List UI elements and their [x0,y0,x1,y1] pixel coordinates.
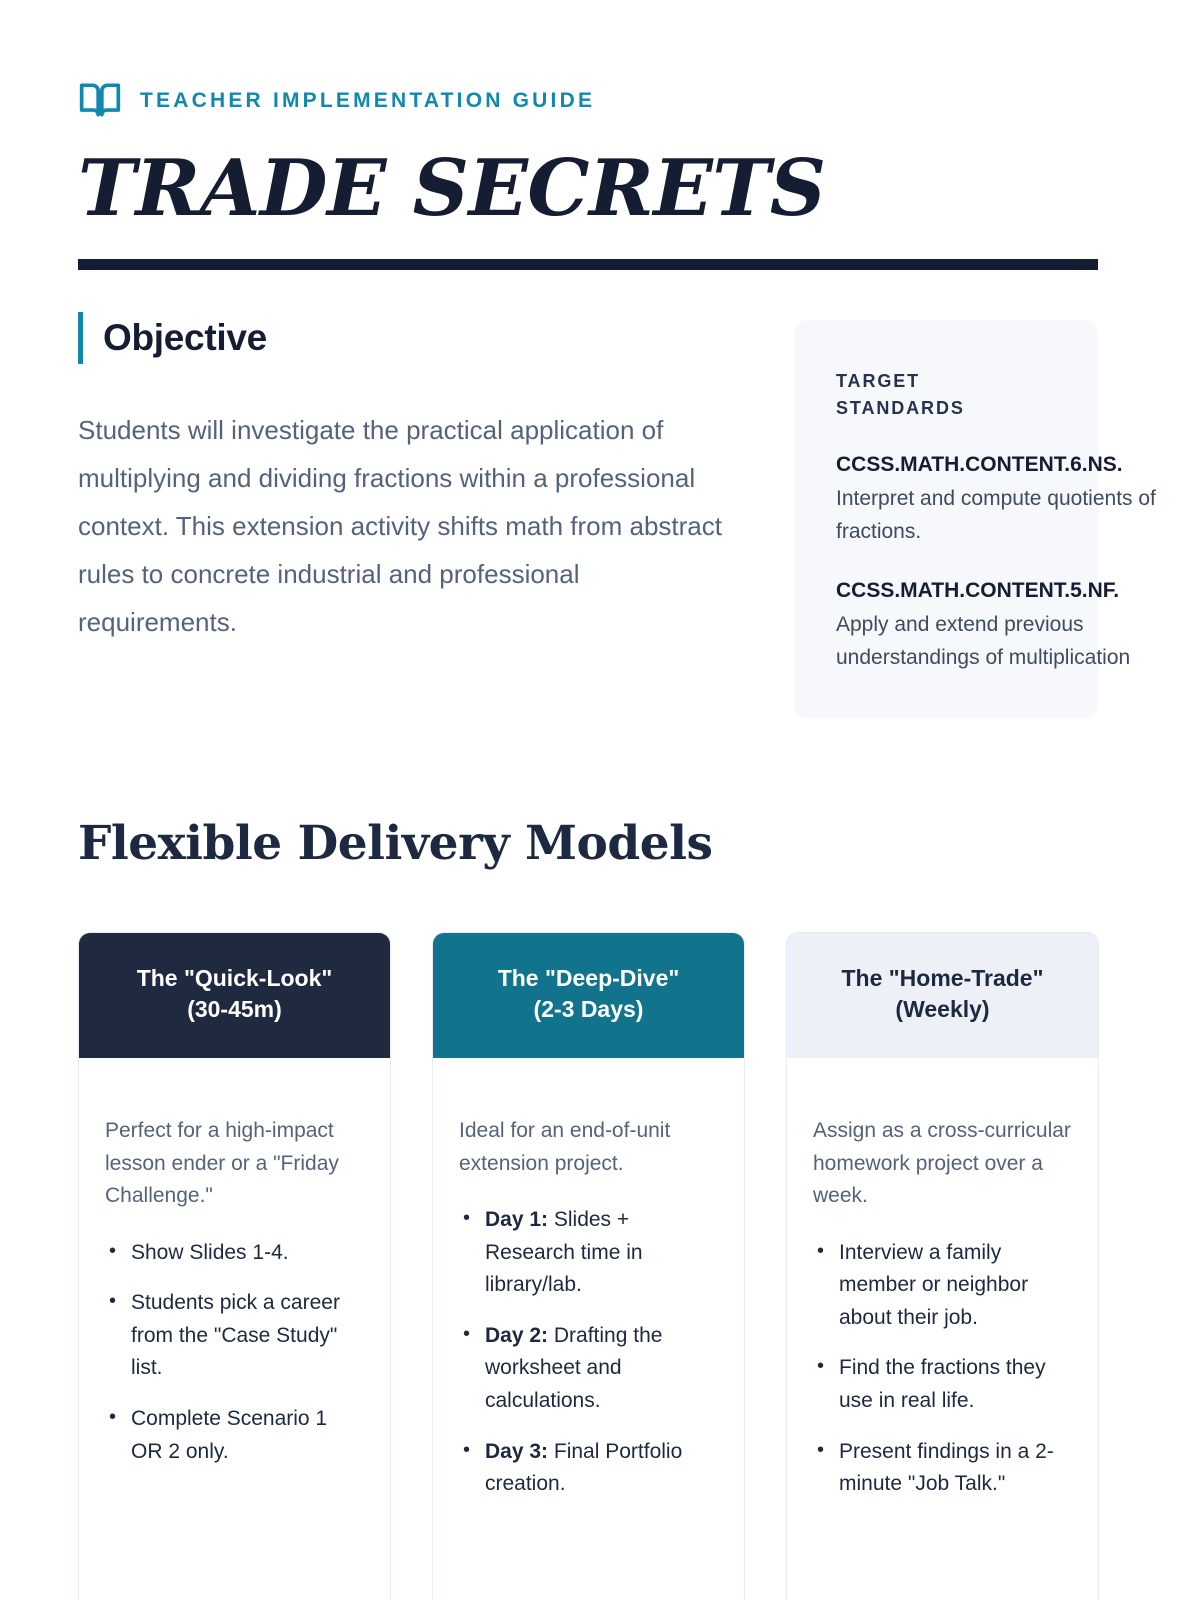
list-item: Day 1: Slides + Research time in library… [485,1204,718,1302]
objective-body-text: Students will investigate the practical … [78,406,743,646]
objective-section: Objective Students will investigate the … [78,312,738,672]
delivery-card-deep-dive: The "Deep-Dive" (2-3 Days) Ideal for an … [432,932,745,1600]
target-standards-card: TARGET STANDARDS CCSS.MATH.CONTENT.6.NS.… [794,320,1098,718]
delivery-card-title-line2: (2-3 Days) [451,994,726,1026]
delivery-card-title-line2: (30-45m) [97,994,372,1026]
list-item-text: Present findings in a 2-minute "Job Talk… [839,1440,1054,1496]
list-item-lead: Day 1: [485,1208,548,1231]
delivery-card-header: The "Quick-Look" (30-45m) [79,933,390,1058]
list-item: Day 3: Final Portfolio creation. [485,1436,718,1501]
list-item: Find the fractions they use in real life… [839,1352,1072,1417]
standard-code: CCSS.MATH.CONTENT.6.NS. [836,448,1098,482]
delivery-card-title-line2: (Weekly) [805,994,1080,1026]
delivery-models-row: The "Quick-Look" (30-45m) Perfect for a … [78,932,1122,1600]
delivery-card-intro: Assign as a cross-curricular homework pr… [813,1115,1072,1213]
guide-page: TEACHER IMPLEMENTATION GUIDE TRADE SECRE… [0,0,1200,1600]
delivery-card-list: Show Slides 1-4. Students pick a career … [105,1237,364,1468]
list-item: Day 2: Drafting the worksheet and calcul… [485,1320,718,1418]
list-item: Present findings in a 2-minute "Job Talk… [839,1436,1072,1501]
objective-standards-row: Objective Students will investigate the … [78,312,1122,718]
delivery-card-body: Ideal for an end-of-unit extension proje… [433,1058,744,1500]
list-item: Students pick a career from the "Case St… [131,1287,364,1385]
delivery-card-title-line1: The "Home-Trade" [805,963,1080,995]
delivery-card-body: Perfect for a high-impact lesson ender o… [79,1058,390,1468]
delivery-card-body: Assign as a cross-curricular homework pr… [787,1058,1098,1500]
list-item: Complete Scenario 1 OR 2 only. [131,1403,364,1468]
delivery-models-title: Flexible Delivery Models [78,818,1122,870]
list-item-text: Students pick a career from the "Case St… [131,1291,340,1379]
standard-description: Apply and extend previous understandings… [836,608,1166,674]
delivery-card-quick-look: The "Quick-Look" (30-45m) Perfect for a … [78,932,391,1600]
delivery-card-home-trade: The "Home-Trade" (Weekly) Assign as a cr… [786,932,1099,1600]
delivery-card-intro: Perfect for a high-impact lesson ender o… [105,1115,364,1213]
delivery-card-title-line1: The "Quick-Look" [97,963,372,995]
delivery-card-intro: Ideal for an end-of-unit extension proje… [459,1115,718,1180]
delivery-card-header: The "Deep-Dive" (2-3 Days) [433,933,744,1058]
target-standards-label-line2: STANDARDS [836,398,965,418]
standard-description: Interpret and compute quotients of fract… [836,482,1166,548]
target-standards-label-line1: TARGET [836,371,920,391]
open-book-icon [78,78,122,122]
list-item-lead: Day 2: [485,1324,548,1347]
standard-item: CCSS.MATH.CONTENT.6.NS. Interpret and co… [836,448,1098,548]
eyebrow-label: TEACHER IMPLEMENTATION GUIDE [140,90,595,111]
list-item-text: Show Slides 1-4. [131,1241,289,1264]
delivery-card-list: Interview a family member or neighbor ab… [813,1237,1072,1501]
page-title: TRADE SECRETS [78,148,1122,229]
delivery-card-header: The "Home-Trade" (Weekly) [787,933,1098,1058]
header-eyebrow-row: TEACHER IMPLEMENTATION GUIDE [78,0,1122,122]
target-standards-label: TARGET STANDARDS [836,368,996,422]
list-item: Interview a family member or neighbor ab… [839,1237,1072,1335]
standard-code: CCSS.MATH.CONTENT.5.NF. [836,574,1098,608]
delivery-card-list: Day 1: Slides + Research time in library… [459,1204,718,1500]
title-divider [78,259,1098,270]
delivery-card-title-line1: The "Deep-Dive" [451,963,726,995]
list-item-text: Interview a family member or neighbor ab… [839,1241,1028,1329]
list-item-text: Complete Scenario 1 OR 2 only. [131,1407,327,1463]
objective-heading-wrap: Objective [78,312,738,364]
list-item-text: Find the fractions they use in real life… [839,1356,1046,1412]
list-item: Show Slides 1-4. [131,1237,364,1270]
list-item-lead: Day 3: [485,1440,548,1463]
objective-accent-bar [78,312,83,364]
standard-item: CCSS.MATH.CONTENT.5.NF. Apply and extend… [836,574,1098,674]
objective-heading: Objective [103,312,267,364]
